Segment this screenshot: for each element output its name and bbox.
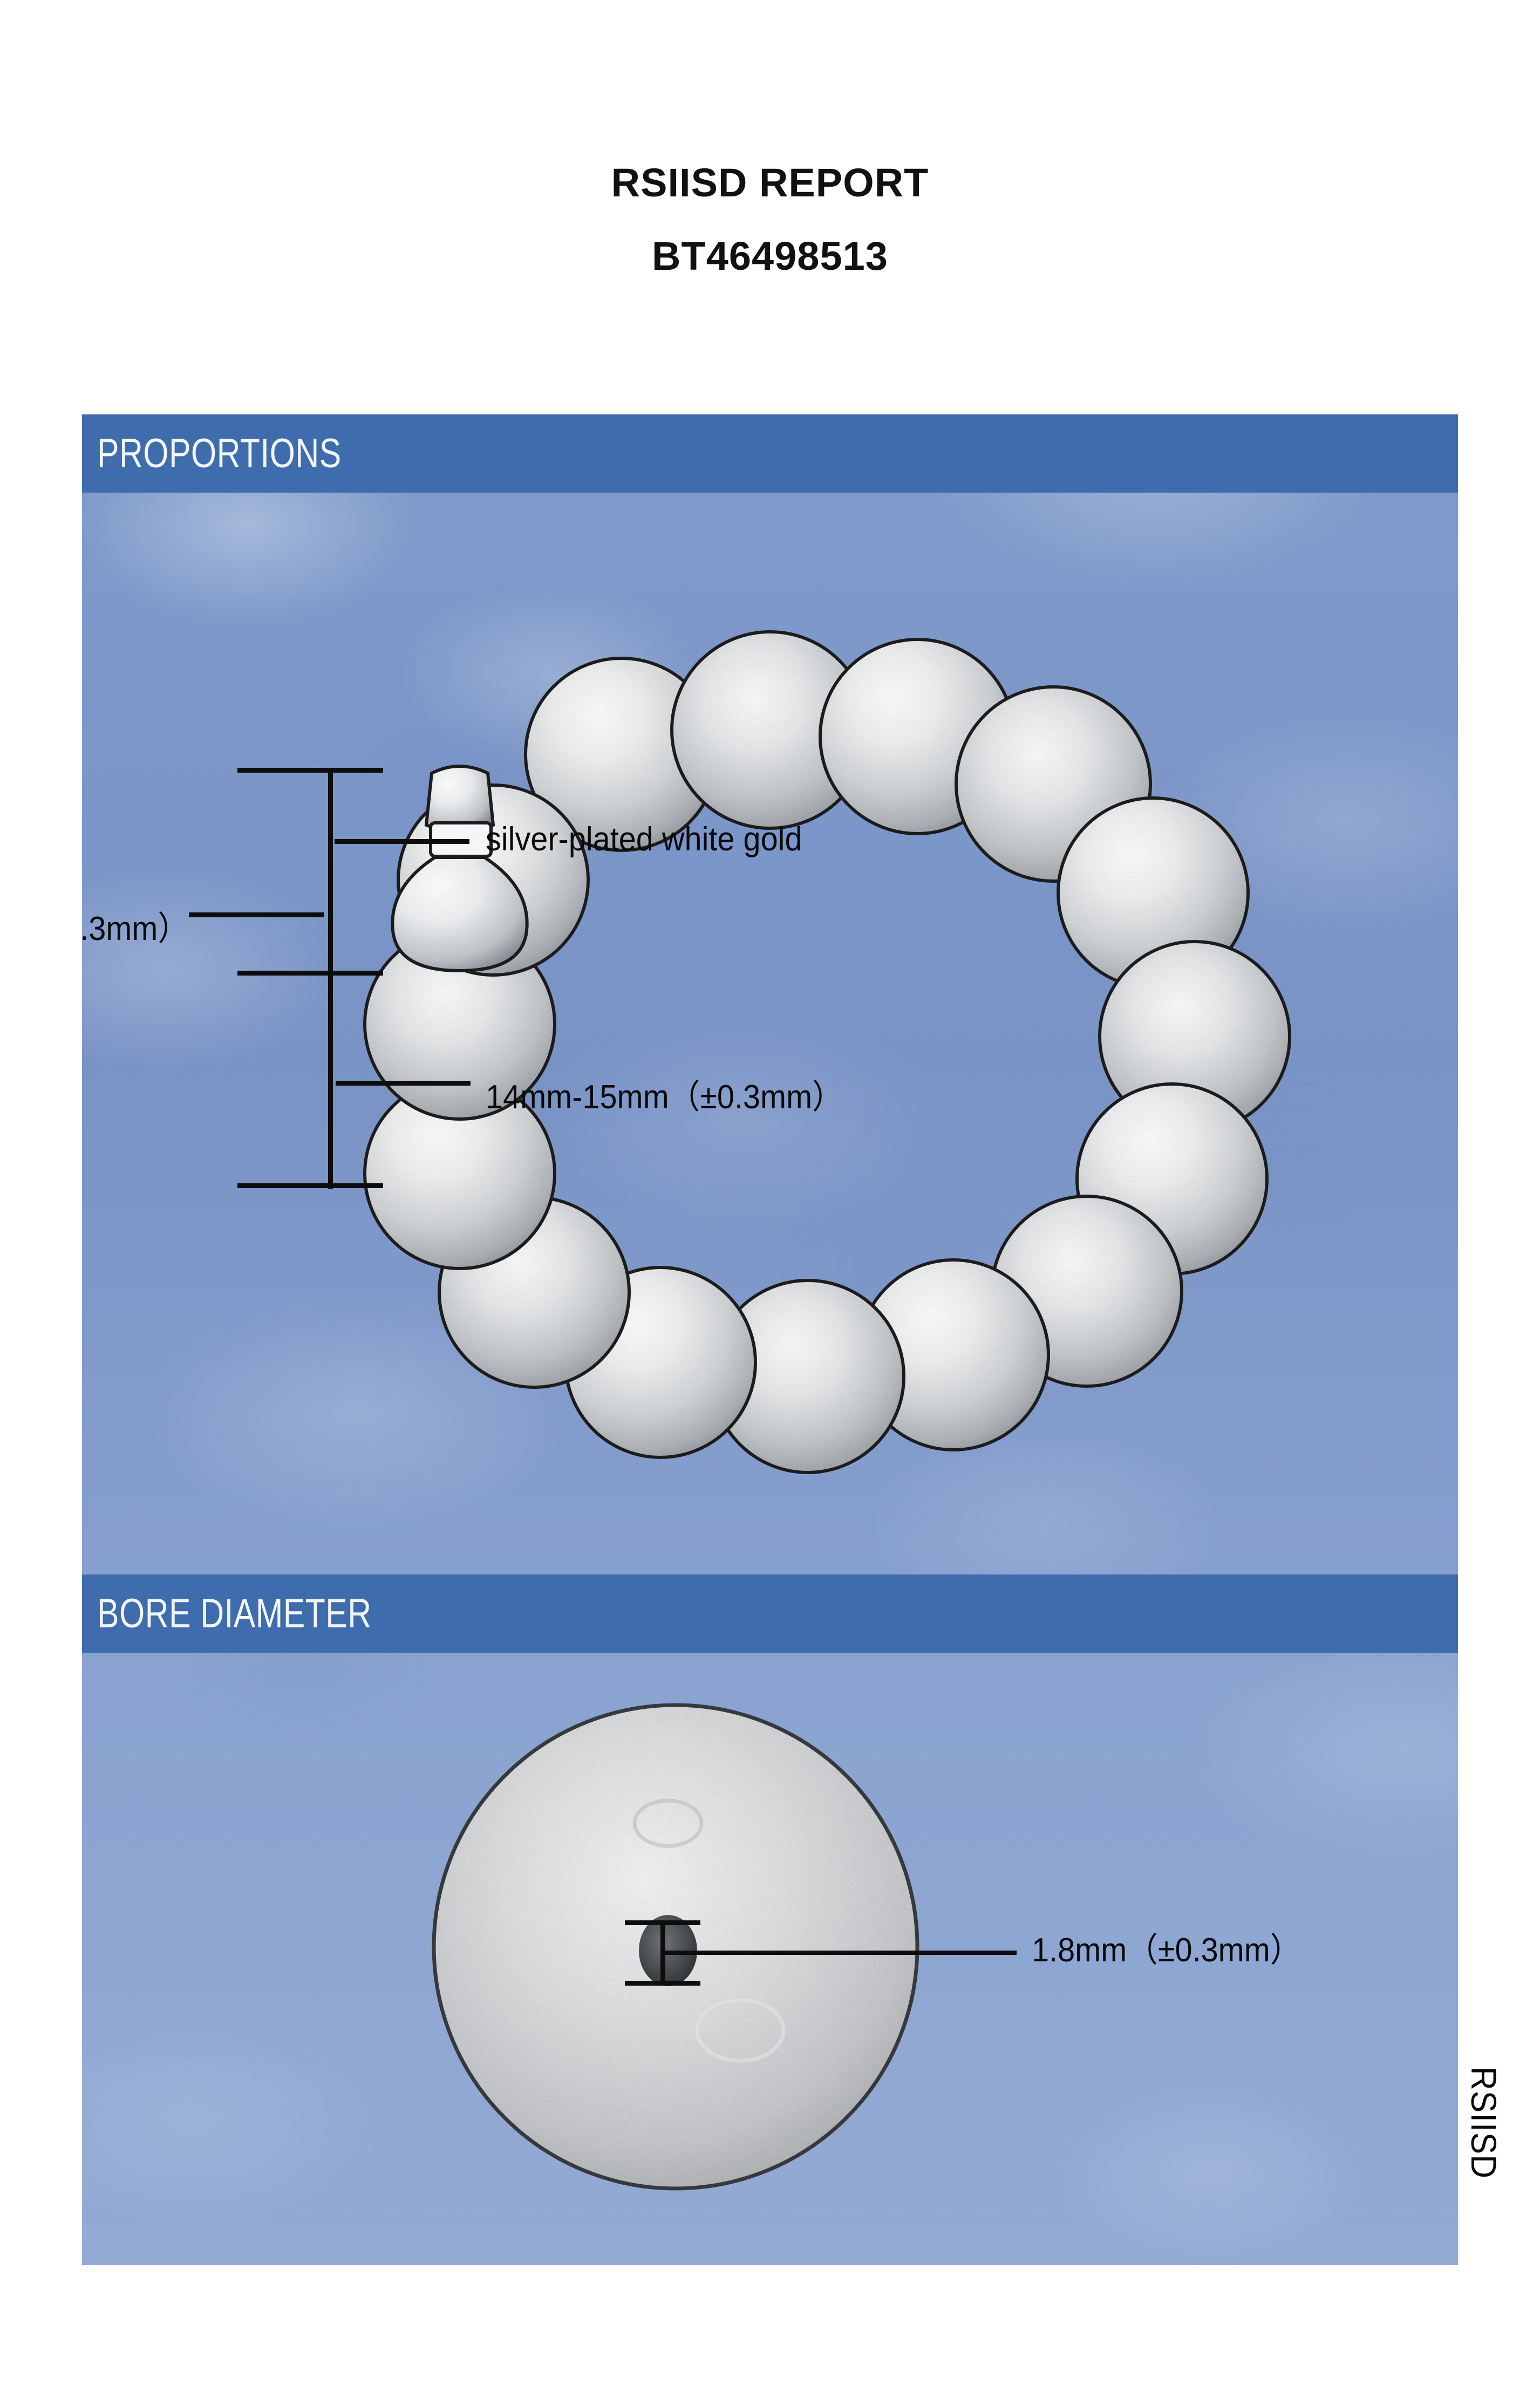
dimension-rule-bulb (189, 912, 324, 917)
annotation-overall-height-label: 18mm（±0.3mm） (82, 912, 189, 946)
page-title: RSIISD REPORT (0, 162, 1540, 204)
dimension-rule-band (335, 839, 469, 844)
section-header-bore-diameter: BORE DIAMETER (82, 1574, 1458, 1653)
dimension-rule-top (237, 768, 383, 773)
report-number: BT46498513 (0, 235, 1540, 277)
bracelet-illustration (82, 493, 1458, 1574)
dimension-rule-bead-bot (237, 1183, 383, 1188)
annotation-bead-diameter-label: 14mm-15mm（±0.3mm） (486, 1081, 843, 1114)
section-header-proportions-label: PROPORTIONS (97, 430, 342, 477)
annotation-bore-size-label: 1.8mm（±0.3mm） (1032, 1934, 1301, 1967)
bead-ring (365, 632, 1290, 1472)
bore-diameter-figure: 1.8mm（±0.3mm） (82, 1653, 1458, 2265)
annotation-clasp-material-label: silver-plated white gold (486, 823, 802, 856)
dimension-rule-bead-mid (336, 1081, 471, 1086)
bore-leader-line (660, 1951, 1017, 1955)
proportions-figure: silver-plated white gold 18mm（±0.3mm） 14… (82, 493, 1458, 1574)
section-header-proportions: PROPORTIONS (82, 414, 1458, 493)
section-header-bore-diameter-label: BORE DIAMETER (97, 1590, 372, 1637)
title-block: RSIISD REPORT BT46498513 (0, 0, 1540, 277)
dimension-rule-vertical (328, 768, 333, 1189)
dimension-rule-bead-top (237, 971, 383, 976)
report-panel: PROPORTIONS (82, 414, 1458, 2265)
brand-watermark: RSIISD (1463, 2067, 1504, 2179)
